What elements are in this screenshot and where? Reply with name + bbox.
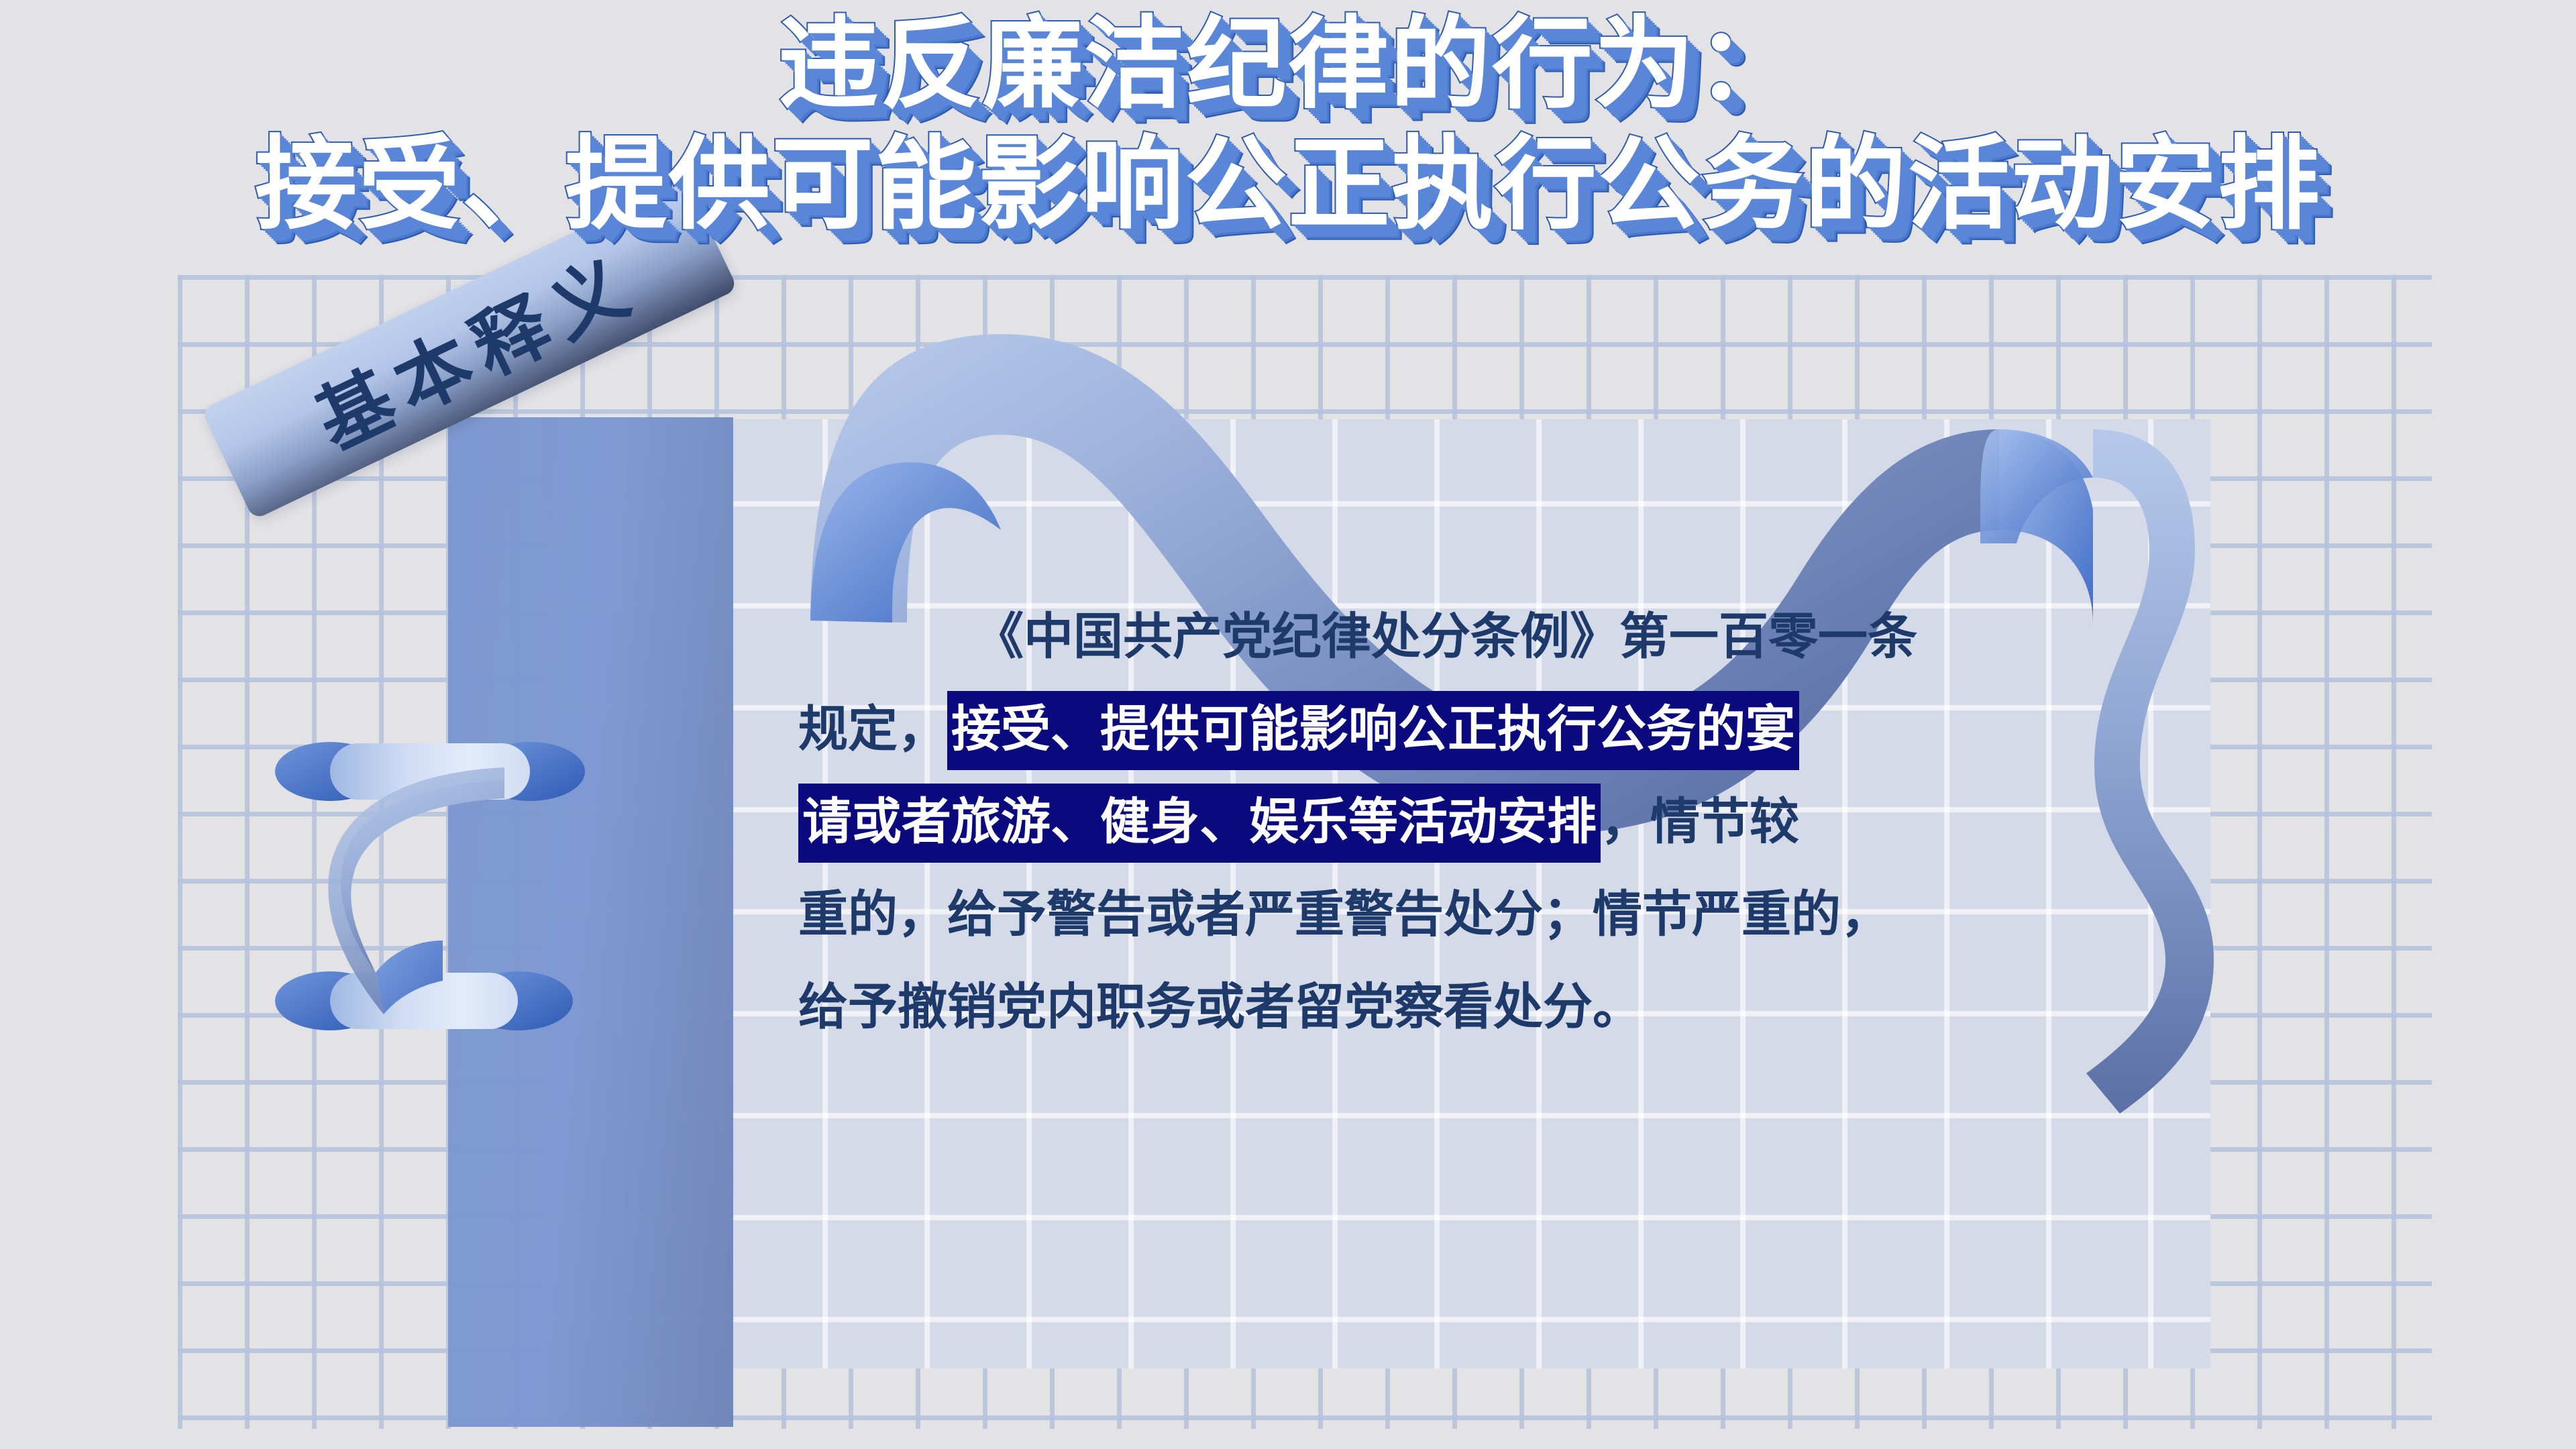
infographic-canvas: 基本释义 违反廉洁纪律的行为： 接受、提供可能影响公正执行公务的活动安排 《中国… (0, 0, 2576, 1449)
body-line-3-highlight: 请或者旅游、健身、娱乐等活动安排 (798, 784, 1601, 863)
body-line-4: 重的，给予警告或者严重警告处分；情节严重的， (798, 868, 2093, 961)
page-title: 违反廉洁纪律的行为： 接受、提供可能影响公正执行公务的活动安排 (0, 5, 2576, 244)
body-line-1: 《中国共产党纪律处分条例》第一百零一条 (798, 590, 2093, 683)
body-line-2-highlight: 接受、提供可能影响公正执行公务的宴 (947, 691, 1799, 770)
body-line-2: 规定，接受、提供可能影响公正执行公务的宴 (798, 683, 2093, 775)
vertical-pillar (448, 417, 733, 1427)
title-line-2: 接受、提供可能影响公正执行公务的活动安排 (0, 124, 2576, 244)
regulation-text: 《中国共产党纪律处分条例》第一百零一条 规定，接受、提供可能影响公正执行公务的宴… (798, 590, 2093, 1053)
body-line-3-suffix: ，情节较 (1601, 793, 1799, 851)
body-line-5: 给予撤销党内职务或者留党察看处分。 (798, 961, 2093, 1053)
title-line-1: 违反廉洁纪律的行为： (0, 5, 2576, 124)
body-line-2-prefix: 规定， (798, 700, 947, 758)
body-line-3: 请或者旅游、健身、娱乐等活动安排，情节较 (798, 775, 2093, 868)
